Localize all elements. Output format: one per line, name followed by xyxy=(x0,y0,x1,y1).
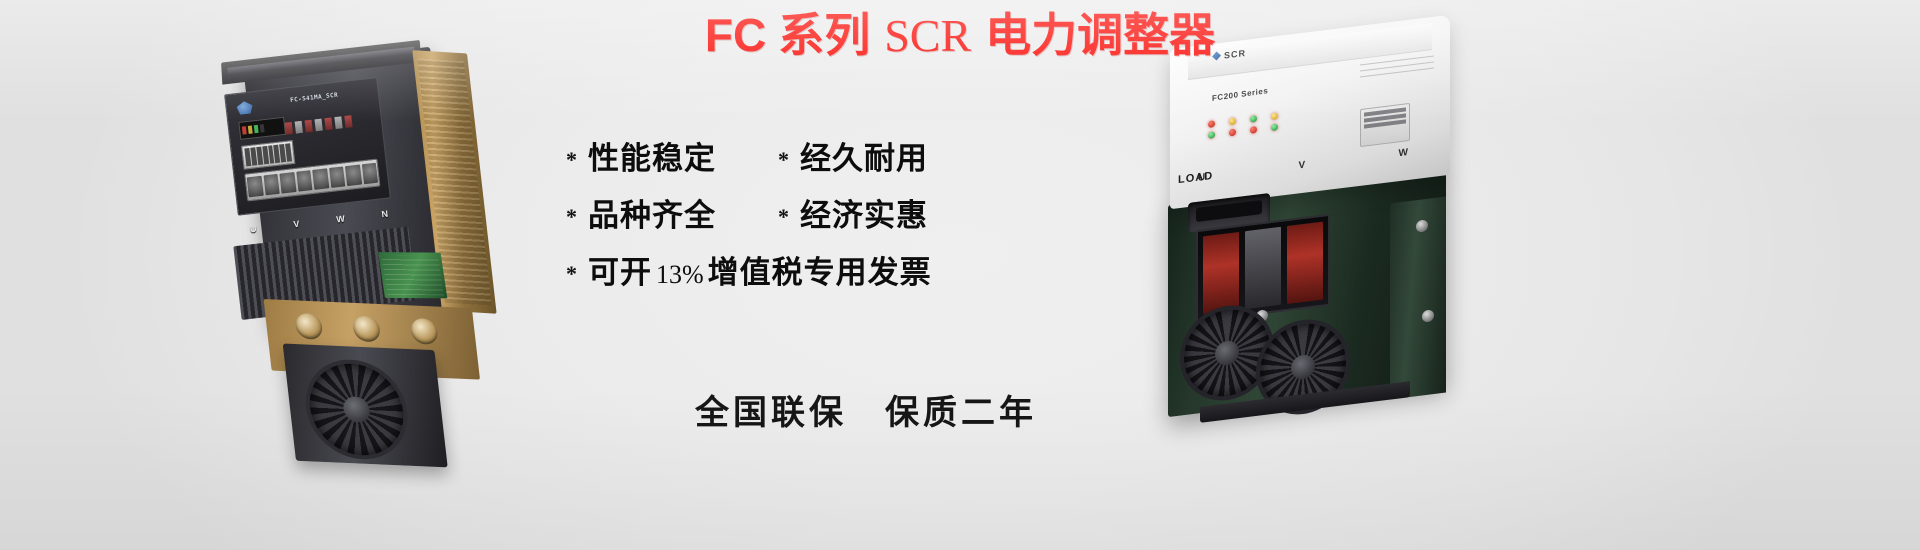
feature-label-economical: 经济实惠 xyxy=(800,200,928,231)
indicator-lamp-2 xyxy=(1208,131,1215,139)
feature-list: * 性能稳定 * 经久耐用 * 品种齐全 * 经济实惠 * 可开 13% xyxy=(566,143,996,314)
feature-item-invoice: * 可开 13% 增值税专用发票 xyxy=(566,257,932,288)
feature-item-economical: * 经济实惠 xyxy=(778,200,928,231)
left-unit-marker-strip xyxy=(284,105,376,135)
product-image-left: FC-S41MA_SCR U V W N xyxy=(206,28,549,459)
feature-item-variety: * 品种齐全 xyxy=(566,200,778,231)
invoice-suffix: 增值税专用发票 xyxy=(708,257,932,288)
right-unit-thyristor-window xyxy=(1196,214,1330,322)
title-brand: FC xyxy=(705,12,766,58)
left-unit-front-panel: FC-S41MA_SCR xyxy=(224,77,391,216)
title-series: 系列 xyxy=(778,12,870,58)
product-banner: FC-S41MA_SCR U V W N SCR FC200 Series xyxy=(0,0,1920,550)
feature-row-3: * 可开 13% 增值税专用发票 xyxy=(566,257,996,314)
feature-label-variety: 品种齐全 xyxy=(588,200,716,231)
left-unit-circuit-board xyxy=(378,252,447,298)
indicator-lamp-1 xyxy=(1208,120,1215,128)
indicator-lamp-6 xyxy=(1250,126,1257,134)
phase-label-n: N xyxy=(381,209,389,220)
indicator-lamp-7 xyxy=(1271,112,1278,120)
manufacturer-logo-icon xyxy=(236,100,253,115)
title-tech: SCR xyxy=(884,13,971,59)
feature-item-durable: * 经久耐用 xyxy=(778,143,928,174)
feature-row-2: * 品种齐全 * 经济实惠 xyxy=(566,200,996,257)
indicator-lamp-4 xyxy=(1229,129,1236,137)
product-image-right: SCR FC200 Series U V W LOAD xyxy=(1060,24,1480,444)
bullet-star-icon: * xyxy=(566,206,577,228)
feature-item-stable: * 性能稳定 xyxy=(566,143,778,174)
warranty-text: 全国联保 保质二年 xyxy=(566,385,1166,434)
phase-label-v: V xyxy=(293,219,300,230)
bullet-star-icon: * xyxy=(778,149,789,171)
feature-label-durable: 经久耐用 xyxy=(800,143,928,174)
left-unit-model-label: FC-S41MA_SCR xyxy=(290,92,339,104)
bullet-star-icon: * xyxy=(778,206,789,228)
right-unit-display-module xyxy=(1360,103,1410,147)
invoice-prefix: 可开 xyxy=(588,257,652,288)
indicator-lamp-3 xyxy=(1229,118,1236,126)
banner-title: FC系列SCR电力调整器 xyxy=(0,12,1920,59)
bullet-star-icon: * xyxy=(566,149,577,171)
bullet-star-icon: * xyxy=(566,263,577,285)
indicator-lamp-8 xyxy=(1271,123,1278,131)
invoice-tax-rate: 13% xyxy=(652,262,708,288)
dip-switch-block xyxy=(241,140,295,170)
phase-label-u: U xyxy=(250,224,258,235)
phase-label-w: W xyxy=(336,214,346,225)
feature-label-stable: 性能稳定 xyxy=(588,143,716,174)
indicator-lamp-5 xyxy=(1250,115,1257,123)
feature-row-1: * 性能稳定 * 经久耐用 xyxy=(566,143,996,200)
title-product: 电力调整器 xyxy=(985,12,1215,58)
status-led-strip xyxy=(238,117,286,140)
phase-label-w: W xyxy=(1399,147,1408,159)
phase-label-v: V xyxy=(1299,160,1306,172)
